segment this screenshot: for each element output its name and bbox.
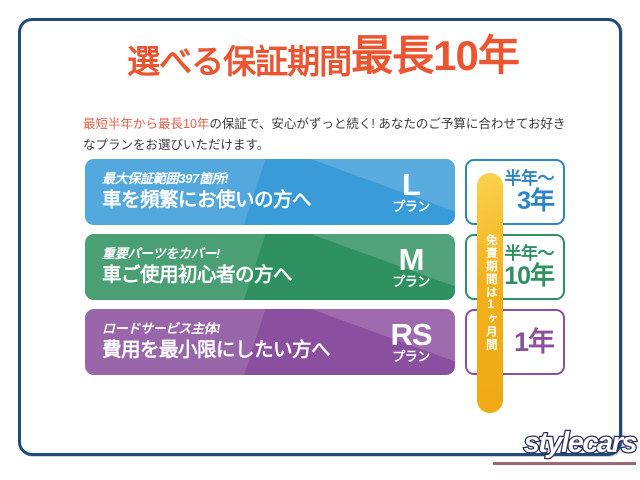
plan-letter: L bbox=[371, 170, 451, 199]
headline-part-2: 最長10年 bbox=[351, 32, 519, 79]
plan-audience: 車を頻繁にお使いの方へ bbox=[102, 189, 371, 211]
plan-tagline: 重要パーツをカバー! bbox=[102, 247, 371, 262]
plan-badge-m: M プラン bbox=[371, 245, 455, 289]
plan-word: プラン bbox=[371, 200, 451, 214]
duration-range-start: 半年～ bbox=[505, 170, 555, 188]
logo-underline bbox=[493, 462, 636, 465]
plan-description-l: 最大保証範囲397箇所! 車を頻繁にお使いの方へ bbox=[85, 172, 371, 211]
plan-bar-rs[interactable]: ロードサービス主体! 費用を最小限にしたい方へ RS プラン bbox=[85, 309, 455, 375]
duration-range-start: 半年～ bbox=[505, 245, 555, 263]
plan-word: プラン bbox=[371, 350, 451, 364]
brand-logo: stylecars bbox=[491, 429, 636, 471]
plan-badge-l: L プラン bbox=[371, 170, 455, 214]
plan-audience: 費用を最小限にしたい方へ bbox=[102, 339, 371, 361]
deductible-period-label: 免責期間は1ヶ月間 bbox=[484, 234, 496, 352]
plan-badge-rs: RS プラン bbox=[371, 320, 455, 364]
plan-letter: M bbox=[371, 245, 451, 274]
plan-description-m: 重要パーツをカバー! 車ご使用初心者の方へ bbox=[85, 247, 371, 286]
headline-part-1: 選べる保証期間 bbox=[127, 43, 351, 80]
duration-range-end: 10年 bbox=[504, 263, 554, 289]
deductible-period-ribbon: 免責期間は1ヶ月間 bbox=[477, 173, 503, 413]
plan-tagline: ロードサービス主体! bbox=[102, 322, 371, 337]
plan-tagline: 最大保証範囲397箇所! bbox=[102, 172, 371, 187]
plan-bar-l[interactable]: 最大保証範囲397箇所! 車を頻繁にお使いの方へ L プラン bbox=[85, 159, 455, 225]
plan-bar-m[interactable]: 重要パーツをカバー! 車ご使用初心者の方へ M プラン bbox=[85, 234, 455, 300]
page-title: 選べる保証期間最長10年 bbox=[21, 35, 625, 78]
advertisement-canvas: 選べる保証期間最長10年 最短半年から最長10年の保証で、安心がずっと続く! あ… bbox=[0, 0, 640, 480]
duration-range-end: 3年 bbox=[517, 188, 554, 214]
plan-description-rs: ロードサービス主体! 費用を最小限にしたい方へ bbox=[85, 322, 371, 361]
plan-audience: 車ご使用初心者の方へ bbox=[102, 264, 371, 286]
content-frame: 選べる保証期間最長10年 最短半年から最長10年の保証で、安心がずっと続く! あ… bbox=[18, 18, 622, 456]
plan-word: プラン bbox=[371, 275, 451, 289]
duration-range-end: 1年 bbox=[514, 328, 554, 356]
brand-name: stylecars bbox=[491, 429, 636, 458]
intro-highlight: 最短半年から最長10年 bbox=[83, 117, 209, 131]
intro-paragraph: 最短半年から最長10年の保証で、安心がずっと続く! あなたのご予算に合わせてお好… bbox=[83, 114, 573, 158]
plan-letter: RS bbox=[371, 320, 451, 349]
